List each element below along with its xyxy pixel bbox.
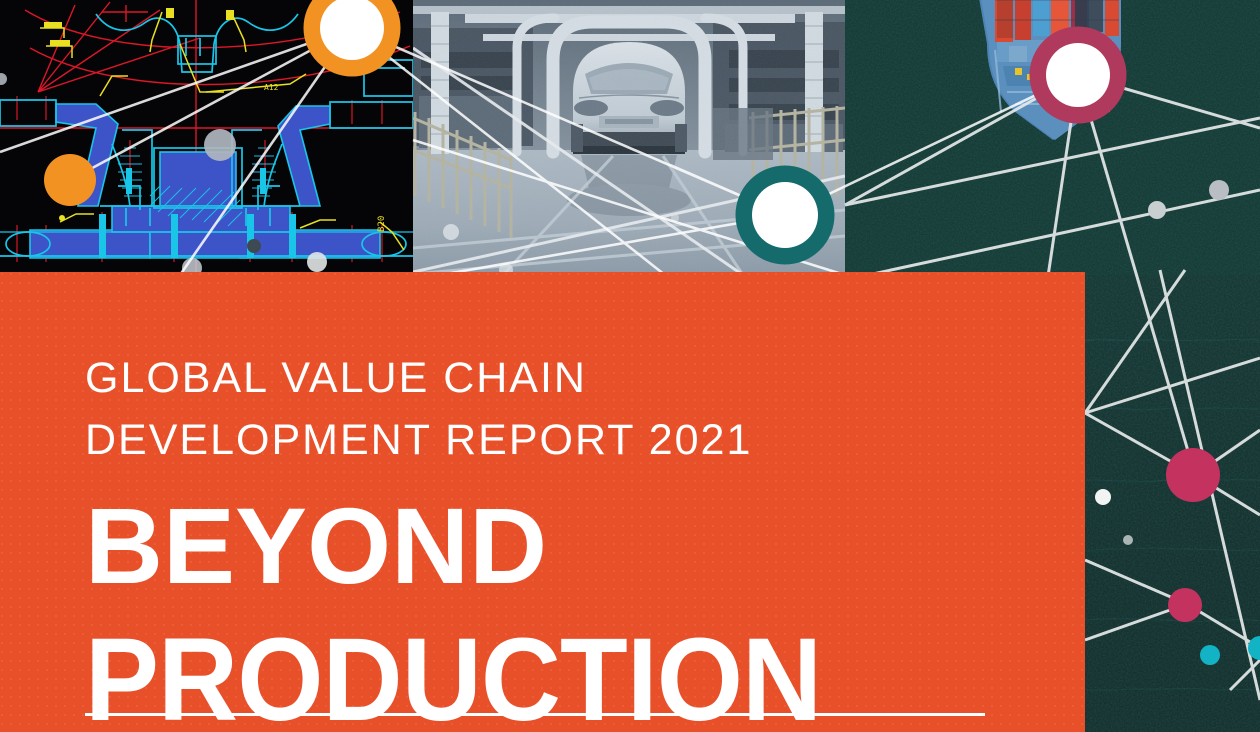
- series-line-2: DEVELOPMENT REPORT 2021: [85, 409, 868, 471]
- series-line-1: GLOBAL VALUE CHAIN: [85, 347, 868, 409]
- network-node: [1095, 489, 1111, 505]
- title-underline: [85, 713, 985, 716]
- network-node: [1200, 645, 1220, 665]
- title-block: GLOBAL VALUE CHAIN DEVELOPMENT REPORT 20…: [0, 272, 1085, 732]
- network-node: [1166, 448, 1220, 502]
- title-group: GLOBAL VALUE CHAIN DEVELOPMENT REPORT 20…: [85, 347, 868, 732]
- network-node: [1123, 535, 1133, 545]
- network-node: [1168, 588, 1202, 622]
- report-cover: B20 A12: [0, 0, 1260, 732]
- network-node: [1209, 180, 1229, 200]
- network-node: [1148, 201, 1166, 219]
- title-line-1: BEYOND: [85, 487, 868, 604]
